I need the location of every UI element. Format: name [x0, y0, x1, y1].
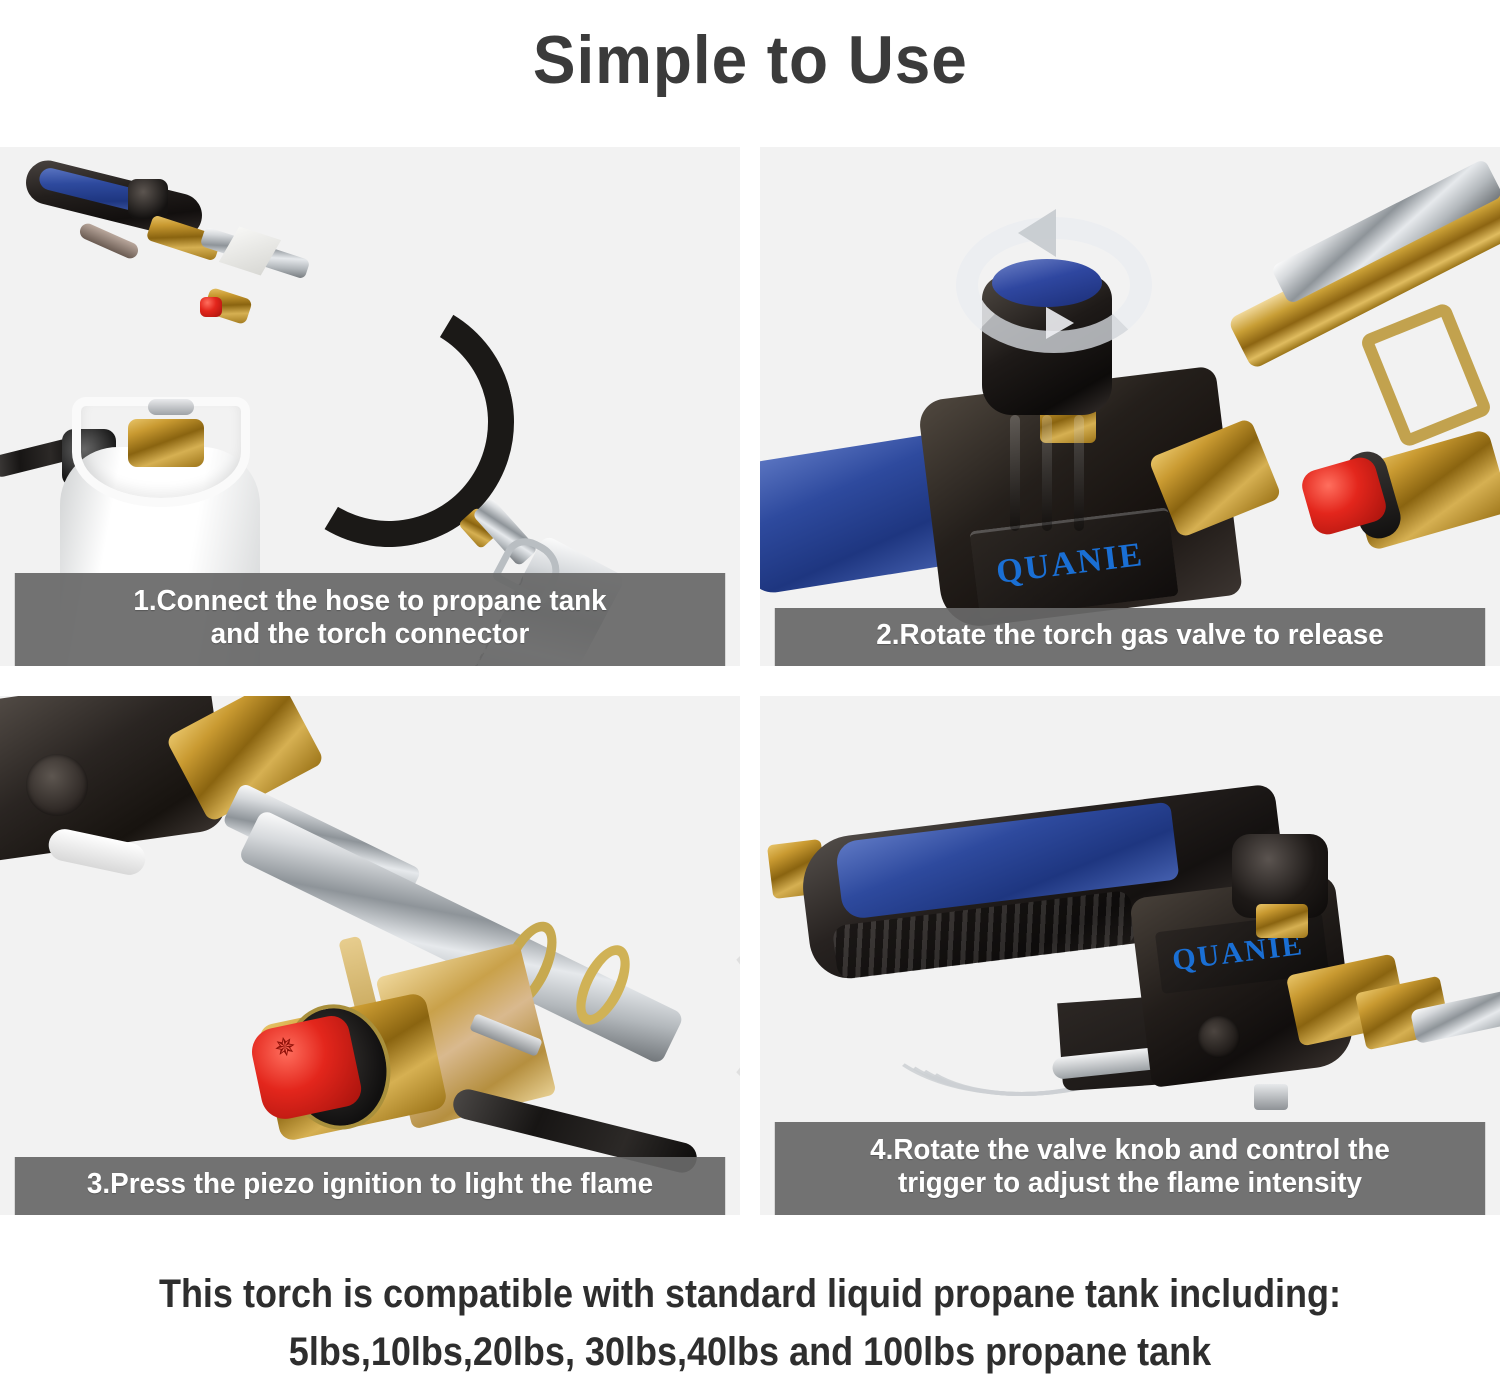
step-panel-3: ✵ 3.Press the piezo ignition to light th… — [0, 696, 740, 1215]
page-header: Simple to Use — [0, 0, 1500, 120]
step-4-caption-line-2: trigger to adjust the flame intensity — [788, 1167, 1472, 1201]
step-3-caption: 3.Press the piezo ignition to light the … — [15, 1157, 725, 1215]
step-4-caption-line-1: 4.Rotate the valve knob and control the — [788, 1134, 1472, 1168]
step-4-caption: 4.Rotate the valve knob and control the … — [775, 1122, 1485, 1215]
step-panel-1: QUANIE 1.Connect the hose to propane tan… — [0, 147, 740, 666]
steps-grid: QUANIE 1.Connect the hose to propane tan… — [0, 147, 1500, 1215]
step-3-photo: ✵ — [0, 696, 740, 1215]
ignition-star-icon: ✵ — [270, 1032, 301, 1063]
knob-ridge — [1010, 415, 1020, 531]
compatibility-note: This torch is compatible with standard l… — [0, 1265, 1500, 1381]
piezo-ignition-button — [200, 297, 222, 317]
compatibility-line-1: This torch is compatible with standard l… — [75, 1265, 1425, 1323]
rotation-arrow-head-icon — [1018, 209, 1056, 257]
ignition-wire — [640, 936, 740, 1096]
torch-trigger — [77, 221, 140, 261]
tank-valve — [128, 419, 204, 467]
step-panel-4: QUANIE 4.Rotate the valve knob and contr… — [760, 696, 1500, 1215]
knob-ridge — [1074, 415, 1084, 531]
step-1-caption: 1.Connect the hose to propane tank and t… — [15, 573, 725, 666]
barrel-clamp — [1359, 301, 1493, 448]
knob-ridge — [1042, 415, 1052, 531]
page-title: Simple to Use — [533, 26, 968, 94]
step-1-caption-line-2: and the torch connector — [28, 618, 712, 652]
gas-valve-knob — [128, 179, 168, 219]
step-2-photo: QUANIE — [760, 147, 1500, 666]
valve-stem — [1256, 904, 1308, 938]
rotation-arrow-tail-icon — [1046, 307, 1074, 339]
step-panel-2: QUANIE 2.Rotate the torch gas valve to r… — [760, 147, 1500, 666]
step-2-caption: 2.Rotate the torch gas valve to release — [775, 608, 1485, 666]
step-2-caption-line-1: 2.Rotate the torch gas valve to release — [788, 619, 1472, 653]
step-3-caption-line-1: 3.Press the piezo ignition to light the … — [28, 1168, 712, 1202]
body-emblem-icon — [26, 754, 88, 816]
trigger-bolt — [1254, 1084, 1288, 1110]
tank-valve-handwheel — [148, 399, 194, 415]
compatibility-line-2: 5lbs,10lbs,20lbs, 30lbs,40lbs and 100lbs… — [75, 1323, 1425, 1381]
step-1-caption-line-1: 1.Connect the hose to propane tank — [28, 585, 712, 619]
